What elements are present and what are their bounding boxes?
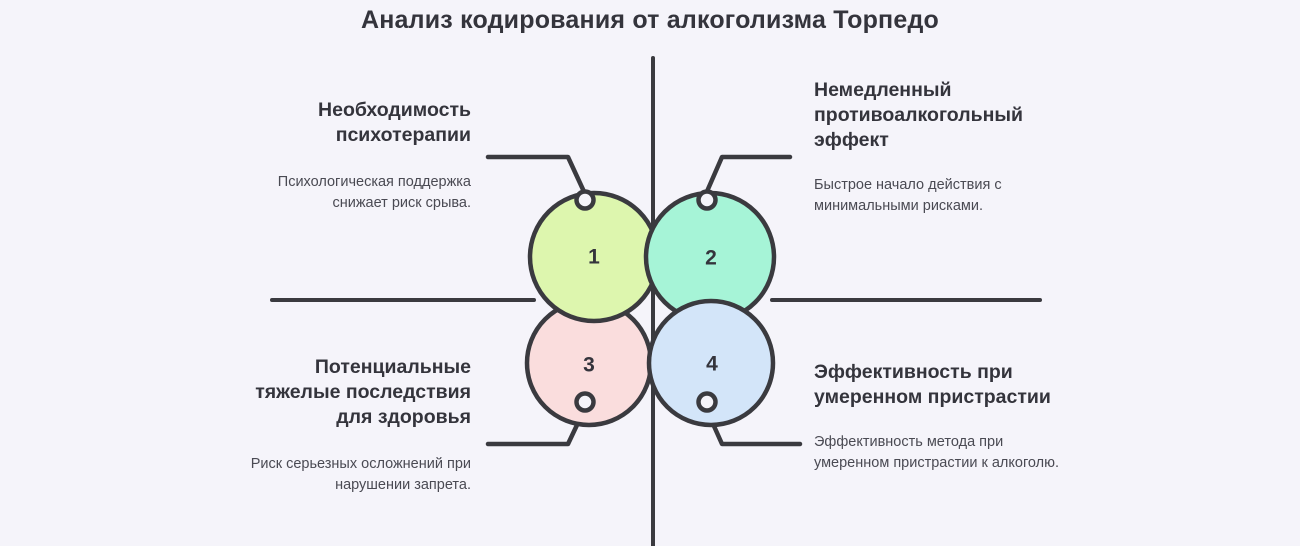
connector-node-4[interactable]: [699, 394, 716, 411]
circle-number-3: 3: [583, 354, 595, 377]
callout-block-2: Немедленный противоалкогольный эффект Бы…: [814, 78, 1064, 216]
callout-body-1: Психологическая поддержка снижает риск с…: [236, 172, 471, 213]
callout-block-4: Эффективность при умеренном пристрастии …: [814, 360, 1064, 473]
connector-node-3[interactable]: [577, 394, 594, 411]
callout-body-4: Эффективность метода при умеренном прист…: [814, 432, 1064, 473]
callout-block-3: Потенциальные тяжелые последствия для зд…: [236, 355, 471, 495]
circle-number-2: 2: [705, 247, 717, 270]
callout-heading-3: Потенциальные тяжелые последствия для зд…: [236, 355, 471, 430]
callout-block-1: Необходимость психотерапии Психологическ…: [236, 98, 471, 213]
diagram-graphics: 1 2 3 4: [0, 0, 1300, 546]
callout-heading-2: Немедленный противоалкогольный эффект: [814, 78, 1064, 153]
connector-line-1: [488, 157, 586, 196]
connector-line-2: [705, 157, 790, 196]
circle-number-4: 4: [706, 353, 718, 376]
connector-node-1[interactable]: [577, 192, 594, 209]
callout-body-3: Риск серьезных осложнений при нарушении …: [236, 454, 471, 495]
infographic-canvas: Анализ кодирования от алкоголизма Торпед…: [0, 0, 1300, 546]
callout-body-2: Быстрое начало действия с минимальными р…: [814, 175, 1064, 216]
circle-number-1: 1: [588, 246, 600, 269]
callout-heading-4: Эффективность при умеренном пристрастии: [814, 360, 1064, 410]
connector-node-2[interactable]: [699, 192, 716, 209]
callout-heading-1: Необходимость психотерапии: [236, 98, 471, 148]
